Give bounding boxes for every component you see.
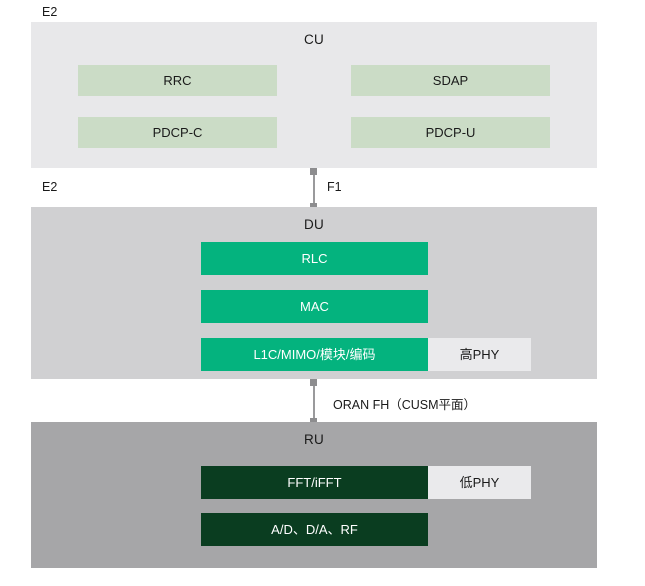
du-block-l1c-mimo-modulation-coding[interactable]: L1C/MIMO/模块/编码 — [201, 338, 428, 371]
oran-fh-connector-label: ORAN FH（CUSM平面） — [333, 398, 476, 413]
du-block-high-phy[interactable]: 高PHY — [428, 338, 531, 371]
ru-block-ad-da-rf[interactable]: A/D、D/A、RF — [201, 513, 428, 546]
oran-fh-connector-line — [313, 381, 315, 422]
e2-label-du: E2 — [42, 180, 57, 195]
f1-connector-line — [313, 170, 315, 207]
cu-section-title: CU — [31, 32, 597, 48]
ru-section-title: RU — [31, 432, 597, 448]
e2-label-cu: E2 — [42, 5, 57, 20]
du-block-rlc[interactable]: RLC — [201, 242, 428, 275]
oran-fh-connector-endpoint-top — [310, 379, 317, 386]
ru-block-fft-ifft[interactable]: FFT/iFFT — [201, 466, 428, 499]
f1-connector-endpoint-top — [310, 168, 317, 175]
f1-connector-label: F1 — [327, 180, 342, 195]
cu-block-pdcp-c[interactable]: PDCP-C — [78, 117, 277, 148]
du-block-mac[interactable]: MAC — [201, 290, 428, 323]
oran-ran-split-diagram: E2 E2 CU RRC SDAP PDCP-C PDCP-U F1 DU RL… — [0, 0, 645, 586]
ru-block-low-phy[interactable]: 低PHY — [428, 466, 531, 499]
cu-block-pdcp-u[interactable]: PDCP-U — [351, 117, 550, 148]
cu-block-sdap[interactable]: SDAP — [351, 65, 550, 96]
du-section-title: DU — [31, 217, 597, 233]
cu-block-rrc[interactable]: RRC — [78, 65, 277, 96]
